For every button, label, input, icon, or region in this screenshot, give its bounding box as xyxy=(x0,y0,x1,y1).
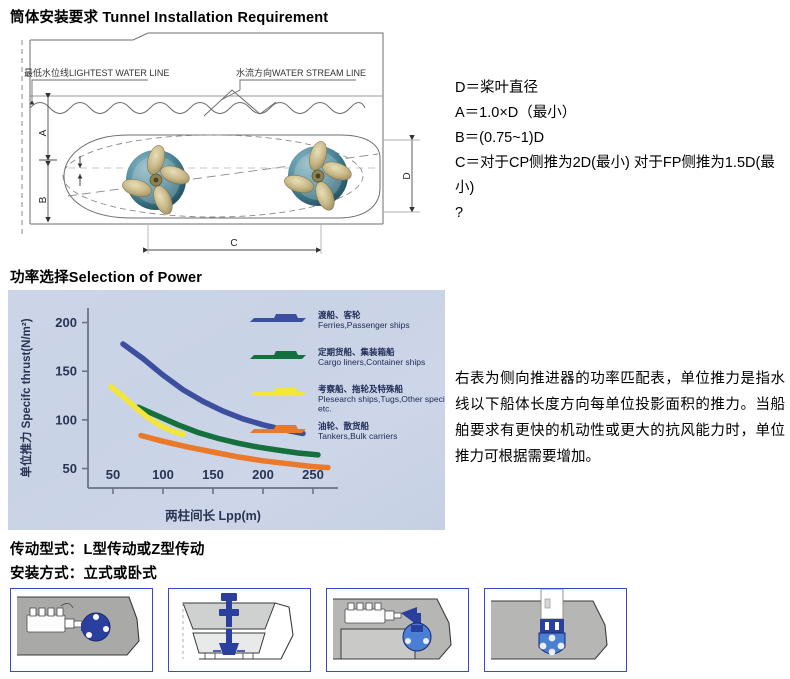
legend-label-en: Ferries,Passenger ships xyxy=(318,320,410,330)
thumbnail-horizontal-engine-hull-install[interactable] xyxy=(10,588,153,672)
legend-item-1: 定期货船、集装箱船Cargo liners,Container ships xyxy=(250,347,425,367)
page-title-selection-of-power: 功率选择Selection of Power xyxy=(10,266,202,287)
mount-type-line: 安装方式：立式或卧式 xyxy=(10,562,157,583)
legend-label-en: etc. xyxy=(318,404,332,414)
vessel-installation-diagram: 最低水位线LIGHTEST WATER LINE 水流方向WATER STREA… xyxy=(8,28,448,258)
page-root: 筒体安装要求 Tunnel Installation Requirement xyxy=(0,0,790,679)
drive-type-line: 传动型式：L型传动或Z型传动 xyxy=(10,538,205,559)
legend-label-cn: 考察船、拖轮及特殊船 xyxy=(318,384,404,394)
legend-item-0: 渡船、客轮Ferries,Passenger ships xyxy=(250,310,410,330)
spec-line-c: C＝对于CP侧推为2D(最小) 对于FP侧推为1.5D(最小) xyxy=(455,151,785,201)
y-tick-50: 50 xyxy=(63,461,77,476)
legend-label-cn: 渡船、客轮 xyxy=(318,310,361,320)
legend-label-cn: 油轮、散货船 xyxy=(318,421,370,431)
legend-ship-icon xyxy=(250,388,306,396)
spec-line-d: D＝桨叶直径 xyxy=(455,76,785,101)
x-tick-150: 150 xyxy=(202,467,224,482)
installation-thumbnail-row xyxy=(10,588,780,672)
spec-line-b: B＝(0.75~1)D xyxy=(455,126,785,151)
spec-line-a: A＝1.0×D（最小） xyxy=(455,101,785,126)
spec-line-extra: ? xyxy=(455,201,785,226)
legend-ship-icon xyxy=(250,314,306,322)
thruster-unit-2 xyxy=(282,139,353,213)
chart-y-axis-label: 单位推力 Specifc thrust(N/m²) xyxy=(19,318,33,477)
legend-ship-icon xyxy=(250,351,306,359)
label-water-stream-line: 水流方向WATER STREAM LINE xyxy=(236,67,366,78)
label-dim-c: C xyxy=(230,238,237,249)
spec-list: D＝桨叶直径 A＝1.0×D（最小） B＝(0.75~1)D C＝对于CP侧推为… xyxy=(455,76,785,226)
legend-label-en: Plesearch ships,Tugs,Other special vesse… xyxy=(318,394,445,404)
x-tick-200: 200 xyxy=(252,467,274,482)
x-tick-50: 50 xyxy=(106,467,120,482)
label-lightest-water-line: 最低水位线LIGHTEST WATER LINE xyxy=(24,67,169,78)
specific-thrust-chart: 50100150200 50100150200250 单位推力 Specifc … xyxy=(8,290,445,530)
legend-item-3: 油轮、散货船Tankers,Bulk carriers xyxy=(250,421,397,441)
y-tick-200: 200 xyxy=(55,315,77,330)
chart-x-axis-label: 两柱间长 Lpp(m) xyxy=(165,508,261,523)
label-dim-a: A xyxy=(38,129,49,136)
page-title-tunnel-installation: 筒体安装要求 Tunnel Installation Requirement xyxy=(10,6,328,27)
thumbnail-horizontal-engine-tunnel-install[interactable] xyxy=(326,588,469,672)
x-tick-100: 100 xyxy=(152,467,174,482)
thumbnail-vertical-shaft-install[interactable] xyxy=(168,588,311,672)
label-dim-d: D xyxy=(402,172,413,179)
power-description-paragraph: 右表为侧向推进器的功率匹配表，单位推力是指水线以下船体长度方向每单位投影面积的推… xyxy=(455,366,785,470)
legend-label-en: Tankers,Bulk carriers xyxy=(318,431,397,441)
thruster-unit-1 xyxy=(120,143,191,217)
y-tick-100: 100 xyxy=(55,412,77,427)
chart-legend: 渡船、客轮Ferries,Passenger ships定期货船、集装箱船Car… xyxy=(250,310,445,441)
legend-label-cn: 定期货船、集装箱船 xyxy=(317,347,395,357)
label-dim-b: B xyxy=(38,196,49,203)
legend-label-en: Cargo liners,Container ships xyxy=(318,357,425,367)
thumbnail-vertical-unit-tunnel-install[interactable] xyxy=(484,588,627,672)
legend-item-2: 考察船、拖轮及特殊船Plesearch ships,Tugs,Other spe… xyxy=(250,384,445,414)
y-tick-150: 150 xyxy=(55,364,77,379)
